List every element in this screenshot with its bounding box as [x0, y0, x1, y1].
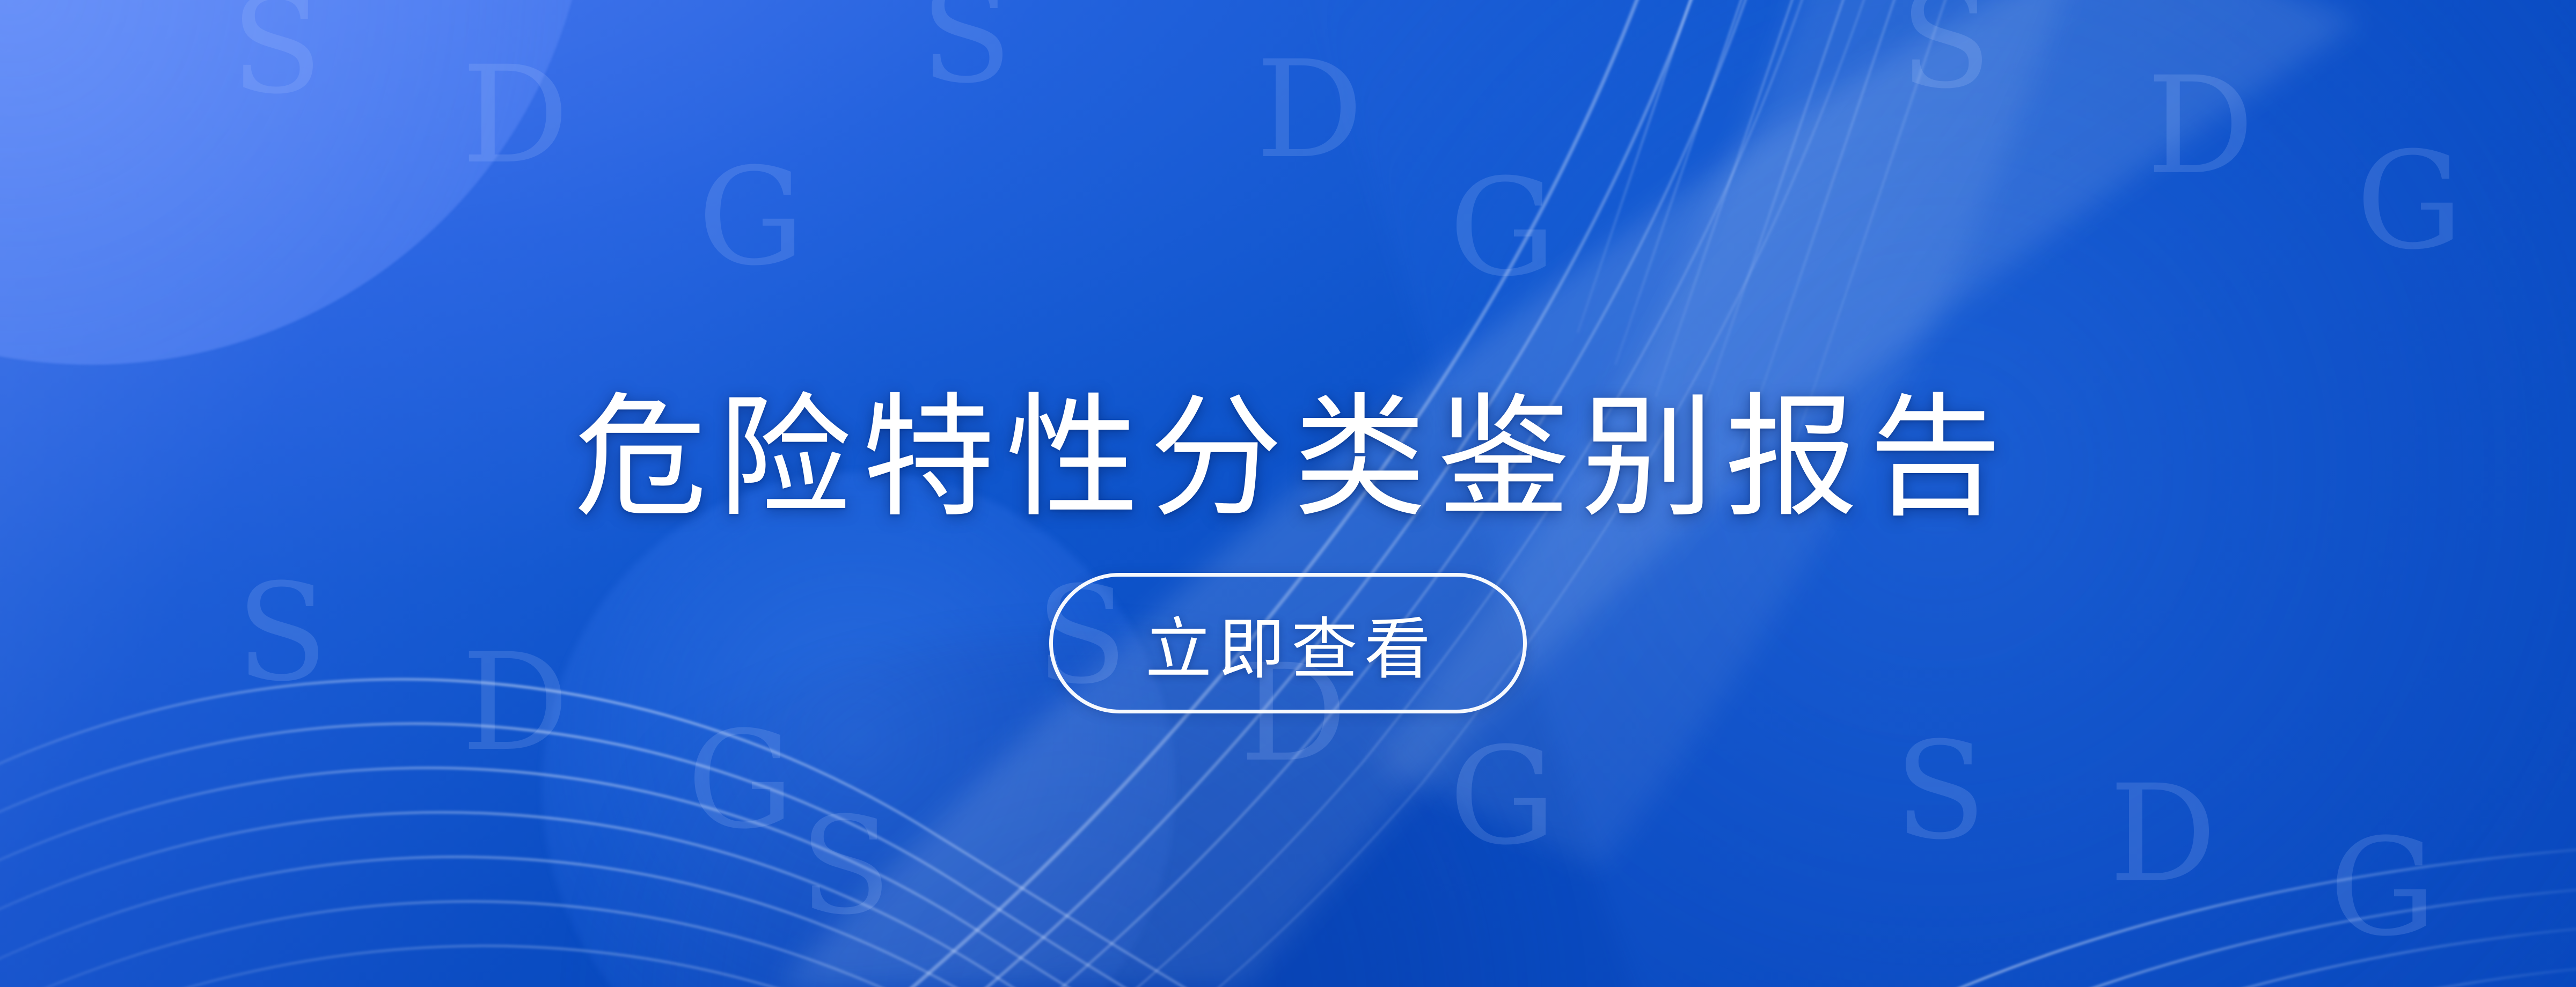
- view-now-button[interactable]: 立即查看: [1049, 573, 1527, 713]
- view-now-button-label: 立即查看: [1139, 595, 1437, 691]
- cta-block: 立即查看: [0, 573, 2576, 713]
- promo-banner: SDGSDGSDGSDGSDGSDGSD: [0, 0, 2576, 987]
- page-title: 危险特性分类鉴别报告: [563, 350, 2012, 542]
